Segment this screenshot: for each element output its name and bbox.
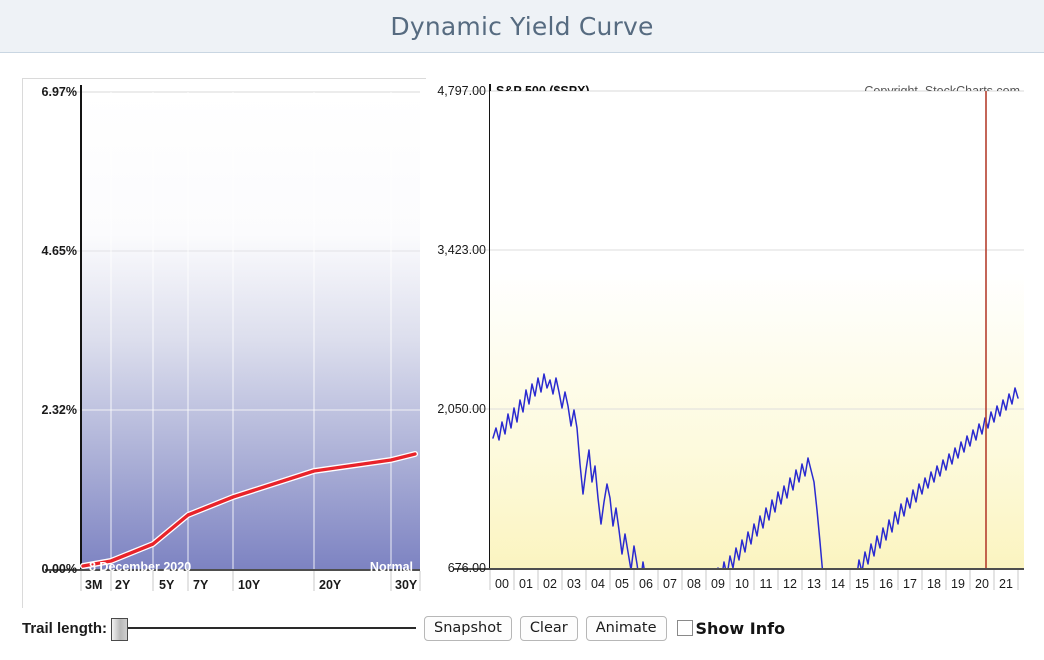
page-header: Dynamic Yield Curve bbox=[0, 0, 1044, 53]
spx-xtick-12: 12 bbox=[783, 577, 797, 591]
spx-panel[interactable]: 4,797.00 3,423.00 2,050.00 676.00 S&P 50… bbox=[432, 78, 1024, 613]
trail-slider-track[interactable] bbox=[119, 627, 416, 629]
spx-xtick-17: 17 bbox=[903, 577, 917, 591]
spx-xtick-10: 10 bbox=[735, 577, 749, 591]
spx-line bbox=[454, 91, 1024, 613]
show-info-checkbox[interactable] bbox=[677, 620, 693, 636]
spx-xtick-08: 08 bbox=[687, 577, 701, 591]
yield-xtick-20y: 20Y bbox=[319, 578, 342, 592]
yield-ytick-3: 0.00% bbox=[42, 562, 77, 576]
yield-curve-panel[interactable]: 6.97% 4.65% 2.32% 0.00% 8 December 2020 … bbox=[22, 78, 426, 613]
yield-curve-chart[interactable]: 6.97% 4.65% 2.32% 0.00% 8 December 2020 … bbox=[23, 79, 427, 614]
trail-length-label: Trail length: bbox=[22, 620, 107, 637]
show-info-label: Show Info bbox=[696, 619, 786, 638]
spx-xtick-20: 20 bbox=[975, 577, 989, 591]
snapshot-button[interactable]: Snapshot bbox=[424, 616, 512, 641]
spx-ytick-2: 2,050.00 bbox=[437, 402, 486, 416]
yield-xtick-3m: 3M bbox=[85, 578, 102, 592]
yield-ytick-2: 2.32% bbox=[42, 403, 77, 417]
yield-ytick-1: 4.65% bbox=[42, 244, 77, 258]
spx-ytick-1: 3,423.00 bbox=[437, 243, 486, 257]
spx-chart[interactable]: 4,797.00 3,423.00 2,050.00 676.00 S&P 50… bbox=[432, 78, 1024, 613]
spx-xtick-11: 11 bbox=[760, 577, 773, 591]
spx-xtick-13: 13 bbox=[807, 577, 821, 591]
spx-xtick-03: 03 bbox=[567, 577, 581, 591]
spx-xtick-15: 15 bbox=[855, 577, 869, 591]
show-info-control[interactable]: Show Info bbox=[677, 619, 786, 638]
page-title: Dynamic Yield Curve bbox=[390, 12, 653, 41]
spx-xtick-02: 02 bbox=[543, 577, 557, 591]
spx-ytick-3: 676.00 bbox=[448, 561, 486, 575]
dynamic-yield-curve-app: Dynamic Yield Curve bbox=[0, 0, 1044, 660]
clear-button[interactable]: Clear bbox=[520, 616, 578, 641]
spx-xtick-14: 14 bbox=[831, 577, 845, 591]
yield-xtick-30y: 30Y bbox=[395, 578, 418, 592]
spx-xtick-00: 00 bbox=[495, 577, 509, 591]
yield-xtick-10y: 10Y bbox=[238, 578, 261, 592]
spx-xtick-07: 07 bbox=[663, 577, 677, 591]
spx-xtick-01: 01 bbox=[519, 577, 533, 591]
controls-inner: Trail length: Snapshot Clear Animate Sho… bbox=[22, 611, 1022, 645]
trail-slider-handle[interactable] bbox=[111, 618, 128, 641]
animate-button[interactable]: Animate bbox=[586, 616, 667, 641]
spx-xtick-21: 21 bbox=[999, 577, 1013, 591]
spx-xtick-09: 09 bbox=[711, 577, 725, 591]
yield-xtick-2y: 2Y bbox=[115, 578, 131, 592]
spx-xtick-06: 06 bbox=[639, 577, 653, 591]
yield-ytick-0: 6.97% bbox=[42, 85, 77, 99]
spx-xtick-05: 05 bbox=[615, 577, 629, 591]
spx-ytick-0: 4,797.00 bbox=[437, 84, 486, 98]
yield-xtick-7y: 7Y bbox=[193, 578, 209, 592]
spx-xtick-19: 19 bbox=[951, 577, 965, 591]
yield-plot-background bbox=[81, 92, 420, 569]
charts-region: 6.97% 4.65% 2.32% 0.00% 8 December 2020 … bbox=[0, 53, 1044, 608]
trail-length-slider[interactable] bbox=[111, 615, 416, 641]
yield-date-annotation: 8 December 2020 bbox=[89, 560, 191, 574]
spx-xtick-18: 18 bbox=[927, 577, 941, 591]
spx-xtick-04: 04 bbox=[591, 577, 605, 591]
spx-xtick-16: 16 bbox=[879, 577, 893, 591]
controls-bar: Trail length: Snapshot Clear Animate Sho… bbox=[0, 608, 1044, 660]
yield-xtick-5y: 5Y bbox=[159, 578, 175, 592]
